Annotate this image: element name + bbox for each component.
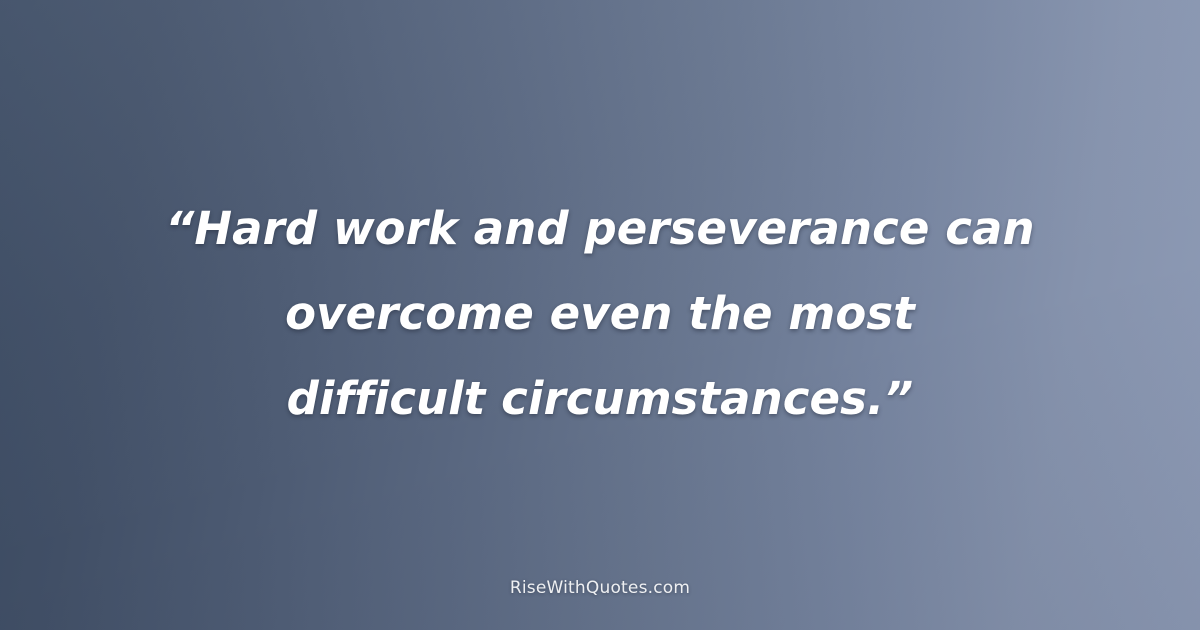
quote-text: “Hard work and perseverance can overcome… [70,186,1130,441]
quote-block: “Hard work and perseverance can overcome… [0,186,1200,441]
quote-card: “Hard work and perseverance can overcome… [0,0,1200,630]
footer-attribution: RiseWithQuotes.com [0,578,1200,598]
